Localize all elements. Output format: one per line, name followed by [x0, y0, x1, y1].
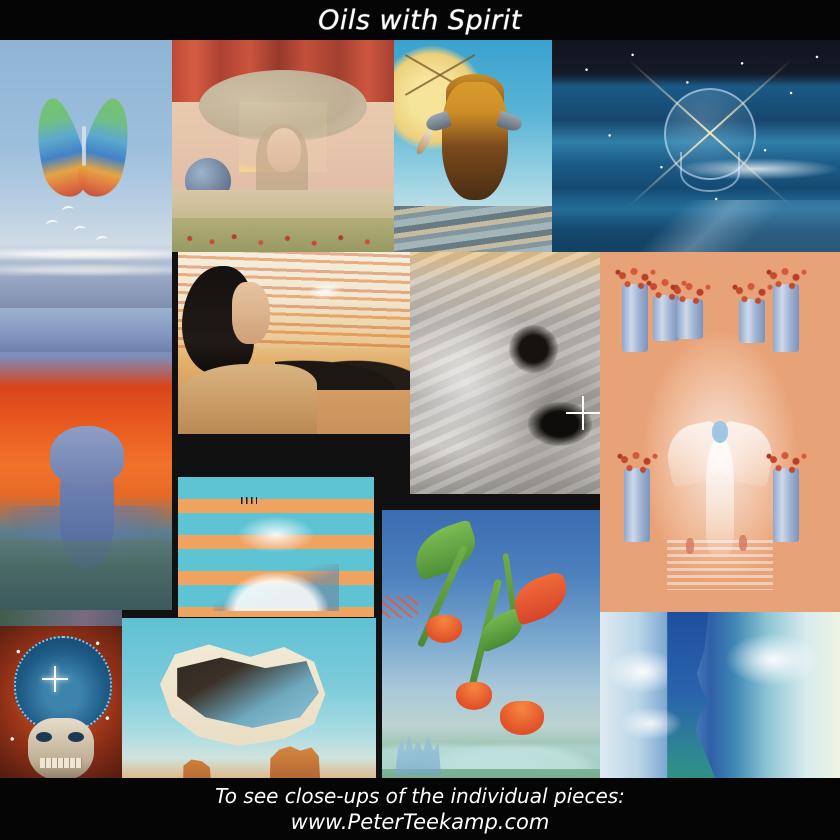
cloud-form [619, 707, 681, 740]
artwork-tile-dreaming-woman-curtains[interactable] [172, 40, 394, 252]
skull-eye-left [36, 732, 52, 742]
footer-prompt: To see close-ups of the individual piece… [215, 783, 625, 809]
mushroom-cloud [237, 516, 315, 552]
artwork-tile-floating-lilies-and-koi[interactable]: P. Teekamp '86 [382, 510, 600, 818]
angel-robe [706, 439, 735, 554]
crystal-skull-jaw [680, 152, 740, 192]
artwork-tile-butterfly-over-clouds[interactable] [0, 40, 172, 308]
flower-column [739, 299, 765, 343]
woman-shoulder [178, 364, 317, 434]
stairway [667, 540, 773, 590]
flower-column [773, 284, 799, 352]
cloud-band [0, 262, 172, 278]
mountain-range [552, 200, 840, 252]
artwork-tile-crystal-skull-starburst[interactable] [552, 40, 840, 252]
website-url[interactable]: www.PeterTeekamp.com [291, 809, 550, 835]
bird-icon [45, 219, 58, 230]
water-surface [0, 540, 172, 610]
cloud-band [0, 246, 172, 262]
artwork-tile-blue-face-in-sunset-sea[interactable] [0, 308, 172, 610]
koi-fish-icon [508, 570, 574, 625]
tiny-figures [241, 497, 257, 504]
star-flash-icon [54, 666, 56, 692]
figure-face [50, 426, 124, 484]
lily-bloom [456, 682, 492, 710]
skull-teeth [40, 758, 82, 768]
lily-bloom [500, 701, 544, 735]
skull-icon [28, 718, 94, 780]
lily-leaf [407, 520, 481, 582]
bird-icon [73, 225, 86, 236]
bird-icon [95, 235, 108, 246]
artwork-tile-woman-sunset-profile[interactable] [178, 252, 410, 434]
driftwood-pile [394, 206, 552, 252]
flower-column [624, 468, 650, 542]
figure-face [267, 128, 301, 172]
upper-sky [0, 308, 172, 352]
artwork-tile-orange-teal-stripes[interactable] [178, 477, 374, 617]
cloud-form [725, 633, 821, 687]
artwork-tile-grey-storm-wave[interactable] [410, 252, 600, 494]
woman-face [232, 282, 270, 344]
buffalo-head [442, 82, 508, 200]
bird-icon [61, 205, 74, 216]
poster-footer: To see close-ups of the individual piece… [0, 778, 840, 840]
dragonfly-icon [382, 596, 418, 618]
butterfly-body-icon [82, 126, 86, 166]
star-icon [582, 396, 584, 430]
skull-eye-right [68, 732, 84, 742]
artwork-tile-golden-buffalo[interactable] [394, 40, 552, 252]
artwork-tile-angel-with-flower-columns[interactable] [600, 252, 840, 612]
dark-void [509, 325, 558, 373]
wave-swirl [410, 252, 600, 494]
poster-header: Oils with Spirit [0, 0, 840, 40]
lily-bloom [426, 615, 462, 643]
poster: Oils with Spirit [0, 0, 840, 840]
cloud-capped-peak [213, 564, 338, 612]
angel-head [712, 421, 729, 443]
page-title: Oils with Spirit [318, 5, 522, 36]
cherub-figure [739, 535, 747, 551]
flower-field [172, 218, 394, 252]
flower-column [677, 299, 703, 339]
artwork-collage: P. Teekamp '86 [0, 40, 840, 778]
flower-column [773, 468, 799, 542]
